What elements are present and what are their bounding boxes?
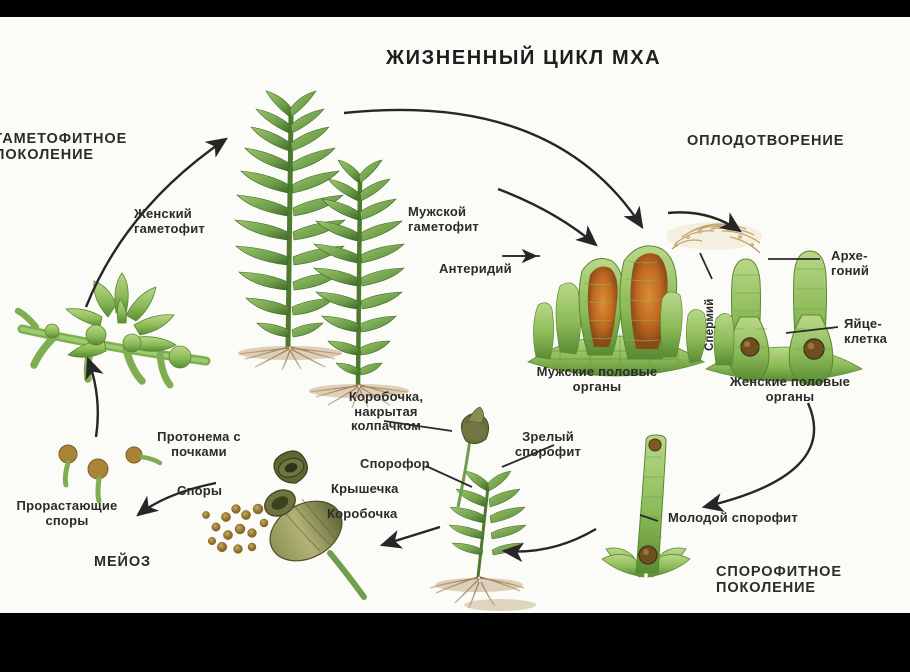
sperm-release-illustration — [666, 222, 762, 253]
arrow-gametophyte-to-fertilization — [344, 110, 642, 227]
leader-young-sporophyte — [640, 515, 658, 521]
sporophyte-generation-label: СПОРОФИТНОЕ ПОКОЛЕНИЕ — [716, 564, 842, 596]
young-sporophyte-illustration — [602, 435, 690, 577]
arrow-spores-to-protonema — [88, 359, 98, 437]
protonema-label: Протонема с почками — [138, 430, 260, 459]
spores-label: Споры — [177, 484, 222, 499]
antheridium-label: Антеридий — [439, 262, 512, 277]
letterbox-bottom — [0, 613, 910, 672]
arrow-mature-to-capsule — [382, 527, 440, 545]
mature-sporophyte-illustration — [430, 471, 536, 611]
leader-egg-cell — [786, 327, 838, 333]
capsule-label: Коробочка — [327, 507, 398, 522]
germinating-spores-label: Прорастающие споры — [2, 499, 132, 528]
screenshot-frame: ЖИЗНЕННЫЙ ЦИКЛ МХА ГАМЕТОФИТНОЕ ПОКОЛЕНИ… — [0, 0, 910, 672]
seta-label: Спорофор — [360, 457, 430, 472]
capsule-with-calyptra-label: Коробочка, накрытая колпачком — [326, 390, 446, 434]
meiosis-label: МЕЙОЗ — [94, 554, 151, 570]
male-gametophyte-illustration — [309, 160, 409, 408]
female-gametophyte-label: Женский гаметофит — [134, 207, 205, 236]
arrow-sperm-to-archegonium — [668, 212, 740, 231]
archegonium-label: Архе- гоний — [831, 249, 869, 278]
letterbox-top — [0, 0, 910, 17]
egg-cell-label: Яйце- клетка — [844, 317, 887, 346]
arrow-to-male-organs — [498, 189, 596, 245]
page-title: ЖИЗНЕННЫЙ ЦИКЛ МХА — [386, 47, 661, 69]
mature-sporophyte-label: Зрелый спорофит — [502, 430, 594, 459]
young-sporophyte-label: Молодой спорофит — [668, 511, 798, 526]
gametophyte-generation-label: ГАМЕТОФИТНОЕ ПОКОЛЕНИЕ — [0, 131, 127, 163]
capsule-operculum-illustration — [202, 447, 364, 597]
capsule-with-calyptra-illustration — [458, 407, 489, 507]
sperm-label: Спермий — [704, 298, 717, 351]
diagram-canvas: ЖИЗНЕННЫЙ ЦИКЛ МХА ГАМЕТОФИТНОЕ ПОКОЛЕНИ… — [0, 17, 910, 613]
operculum-label: Крышечка — [331, 482, 399, 497]
leader-sperm — [700, 253, 712, 279]
female-gametophyte-illustration — [235, 91, 345, 370]
female-sex-organs-label: Женские половые органы — [704, 375, 876, 404]
fertilization-label: ОПЛОДОТВОРЕНИЕ — [687, 133, 844, 149]
arrow-young-to-mature-sporophyte — [504, 529, 596, 552]
arrow-archegonium-to-sporophyte — [704, 403, 814, 507]
leader-seta — [426, 466, 472, 487]
male-gametophyte-label: Мужской гаметофит — [408, 205, 479, 234]
protonema-illustration — [18, 273, 206, 385]
male-sex-organs-label: Мужские половые органы — [506, 365, 688, 394]
antheridia-illustration — [528, 246, 706, 376]
